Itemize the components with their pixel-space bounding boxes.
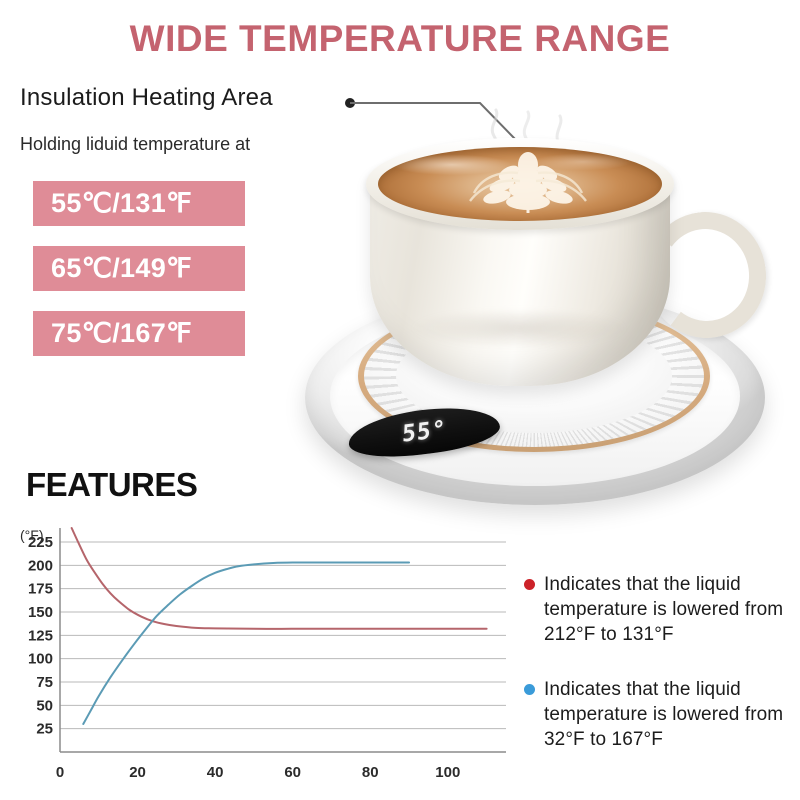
holding-temperature-subtext: Holding liduid temperature at [20,134,250,155]
svg-text:100: 100 [435,764,460,781]
temperature-badge-55: 55℃/131℉ [33,181,245,226]
legend-label-heating: Indicates that the liquid temperature is… [544,677,789,752]
svg-text:0: 0 [56,764,64,781]
chart-svg: (°F)255075100125150175200225020406080100 [14,512,514,792]
product-photo-mug-warmer: 55° [270,110,800,500]
legend-item-heating: Indicates that the liquid temperature is… [524,677,789,752]
svg-text:40: 40 [207,764,224,781]
legend-dot-blue [524,684,535,695]
svg-text:20: 20 [129,764,146,781]
legend-label-cooling: Indicates that the liquid temperature is… [544,572,789,647]
insulation-area-label: Insulation Heating Area [20,84,273,112]
svg-text:50: 50 [36,697,53,714]
temperature-badge-75: 75℃/167℉ [33,311,245,356]
svg-text:225: 225 [28,534,53,551]
svg-text:100: 100 [28,651,53,668]
svg-text:150: 150 [28,604,53,621]
svg-text:80: 80 [362,764,379,781]
features-heading: FEATURES [26,466,197,504]
legend-item-cooling: Indicates that the liquid temperature is… [524,572,789,647]
svg-text:200: 200 [28,557,53,574]
latte-surface [378,147,662,221]
led-value: 55° [401,416,446,448]
product-infographic: WIDE TEMPERATURE RANGE Insulation Heatin… [0,0,800,800]
page-title: WIDE TEMPERATURE RANGE [0,18,800,60]
temperature-curve-chart: (°F)255075100125150175200225020406080100 [14,512,514,792]
svg-text:125: 125 [28,627,53,644]
svg-text:60: 60 [284,764,301,781]
latte-art-rosetta [378,147,662,221]
svg-text:25: 25 [36,721,53,738]
svg-text:75: 75 [36,674,53,691]
temperature-badge-65: 65℃/149℉ [33,246,245,291]
coffee-cup [370,120,670,390]
legend-dot-red [524,579,535,590]
chart-legend: Indicates that the liquid temperature is… [524,572,789,782]
cup-shading [394,310,644,356]
svg-text:175: 175 [28,581,53,598]
